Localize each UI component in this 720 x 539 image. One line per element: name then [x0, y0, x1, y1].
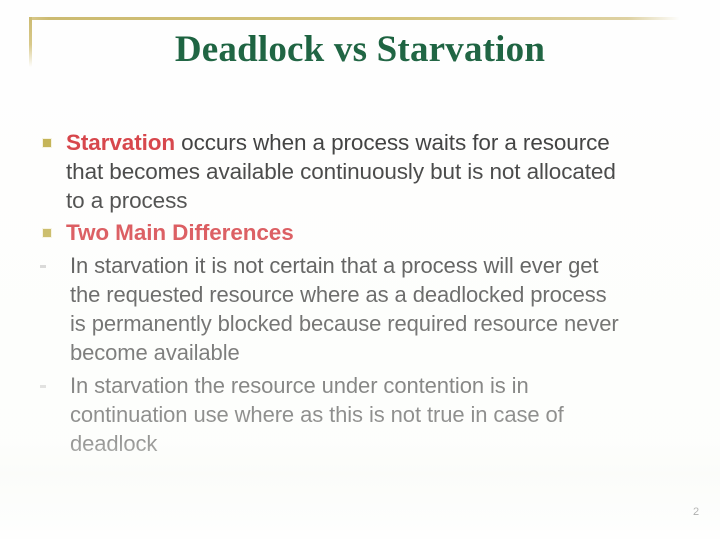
bullet-text-two-main-differences: Two Main Differences	[66, 218, 692, 247]
slide-body: Starvation occurs when a process waits f…	[0, 128, 720, 458]
sub-bullet-line-2: continuation use where as this is not tr…	[70, 402, 564, 427]
sub-bullet-text-contention: In starvation the resource under content…	[70, 371, 692, 458]
bullet-line-2: that becomes available continuously but …	[66, 159, 616, 184]
sub-bullet-text-certainty: In starvation it is not certain that a p…	[70, 251, 692, 367]
bottom-border-rule	[28, 485, 691, 488]
sub-bullet-line-4: become available	[70, 340, 240, 365]
top-border-rule	[29, 17, 680, 20]
highlight-term-starvation: Starvation	[66, 130, 175, 155]
dash-bullet-icon	[40, 385, 46, 388]
sub-bullet-line-3: deadlock	[70, 431, 157, 456]
bullet-text-starvation: Starvation occurs when a process waits f…	[66, 128, 692, 215]
page-number: 2	[686, 506, 706, 518]
sub-bullet-line-2: the requested resource where as a deadlo…	[70, 282, 607, 307]
sub-bullet-item-contention: In starvation the resource under content…	[0, 371, 720, 458]
square-bullet-icon	[43, 139, 51, 147]
bullet-line-1: occurs when a process waits for a resour…	[175, 130, 610, 155]
bullet-item-starvation: Starvation occurs when a process waits f…	[0, 128, 720, 215]
slide-canvas: Deadlock vs Starvation Starvation occurs…	[0, 0, 720, 539]
slide-title: Deadlock vs Starvation	[0, 27, 720, 73]
sub-bullet-line-1: In starvation it is not certain that a p…	[70, 253, 598, 278]
square-bullet-icon	[43, 229, 51, 237]
dash-bullet-icon	[40, 265, 46, 268]
bullet-line-3: to a process	[66, 188, 187, 213]
sub-bullet-line-3: is permanently blocked because required …	[70, 311, 619, 336]
bullet-item-two-main-differences: Two Main Differences	[0, 218, 720, 247]
sub-bullet-line-1: In starvation the resource under content…	[70, 373, 529, 398]
sub-bullet-item-certainty: In starvation it is not certain that a p…	[0, 251, 720, 367]
